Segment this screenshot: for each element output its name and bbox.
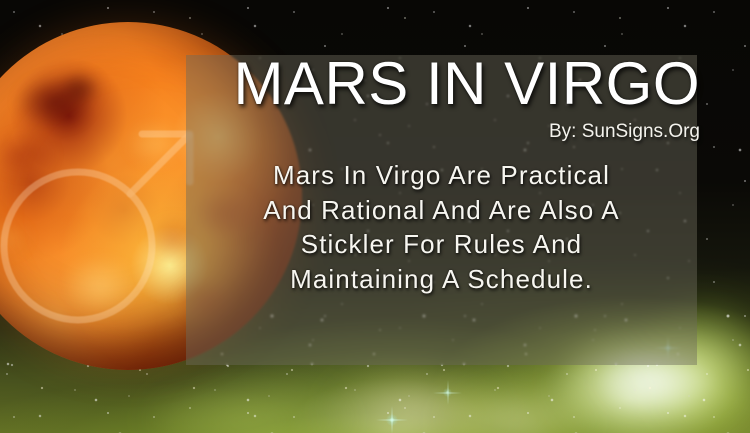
page-title: MARS IN VIRGO (196, 52, 700, 116)
body-line: Maintaining A Schedule. (186, 262, 697, 297)
body-line: Stickler For Rules And (186, 227, 697, 262)
body-line: Mars In Virgo Are Practical (186, 158, 697, 193)
body-line: And Rational And Are Also A (186, 193, 697, 228)
body-description: Mars In Virgo Are Practical And Rational… (186, 158, 697, 296)
byline-credit: By: SunSigns.Org (196, 121, 700, 143)
banner-image: MARS IN VIRGO By: SunSigns.Org Mars In V… (0, 0, 750, 433)
